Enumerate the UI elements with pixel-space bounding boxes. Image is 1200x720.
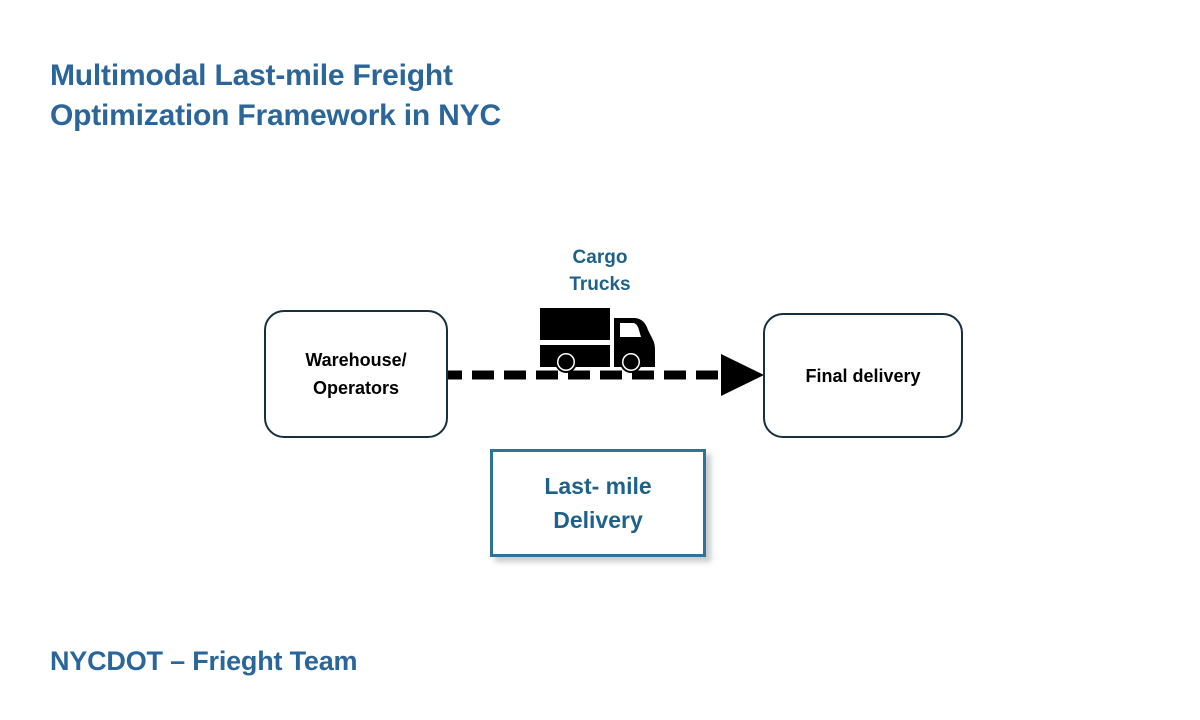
arrowhead-icon [721,354,764,396]
slide-canvas: Multimodal Last-mile Freight Optimizatio… [0,0,1200,720]
cargo-truck-icon [536,306,656,374]
page-title: Multimodal Last-mile Freight Optimizatio… [50,56,520,136]
node-warehouse-operators[interactable]: Warehouse/ Operators [264,310,448,438]
node-last-mile-delivery-label: Last- mile Delivery [544,469,651,537]
node-last-mile-delivery[interactable]: Last- mile Delivery [490,449,706,557]
node-final-delivery[interactable]: Final delivery [763,313,963,438]
node-final-delivery-label: Final delivery [805,362,920,390]
node-warehouse-operators-label: Warehouse/ Operators [305,346,406,402]
footer-team-credit: NYCDOT – Frieght Team [50,643,357,679]
cargo-trucks-label: Cargo Trucks [530,244,670,298]
